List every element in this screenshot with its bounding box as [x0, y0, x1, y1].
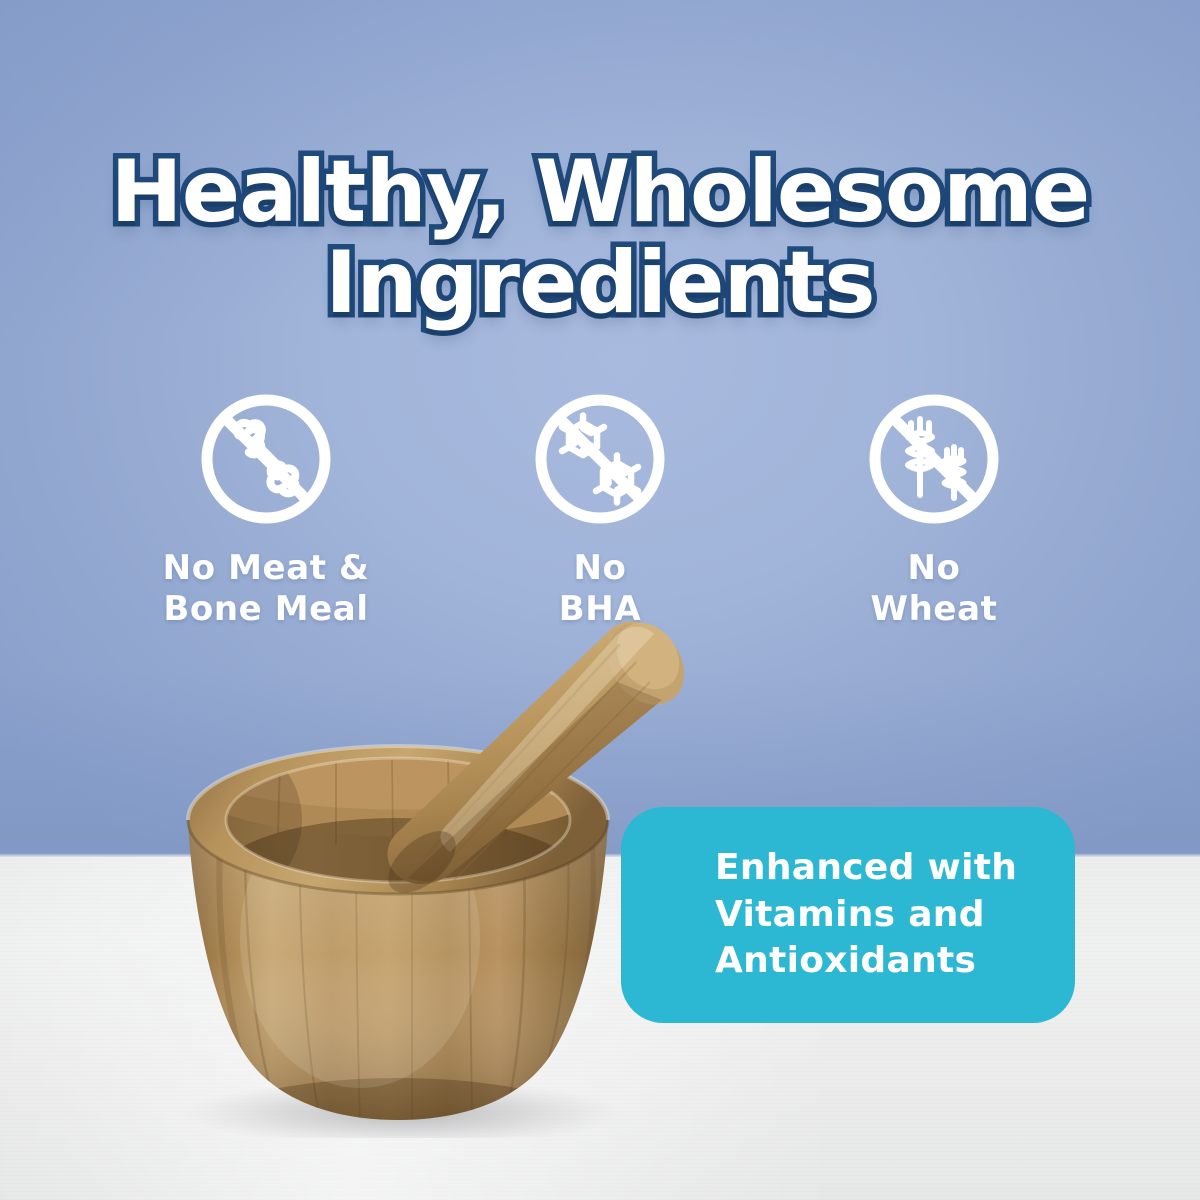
no-wheat-icon [867, 392, 1001, 526]
callout-text: Enhanced with Vitamins and Antioxidants [621, 845, 1041, 985]
promo-poster: Healthy, Wholesome Ingredients No Meat &… [0, 0, 1200, 1200]
benefit-item-no-wheat: No Wheat [767, 392, 1101, 631]
benefit-item-no-meat-bone-meal: No Meat & Bone Meal [99, 392, 433, 631]
no-bha-icon [533, 392, 667, 526]
benefit-label-no-wheat: No Wheat [871, 548, 998, 631]
page-title-line-2: Ingredients [0, 241, 1200, 326]
callout-card: Enhanced with Vitamins and Antioxidants [621, 807, 1075, 1023]
page-title-line-1: Healthy, Wholesome [0, 150, 1200, 235]
no-meat-bone-meal-icon [199, 392, 333, 526]
page-title: Healthy, Wholesome Ingredients [0, 150, 1200, 326]
benefit-item-no-bha: No BHA [433, 392, 767, 631]
benefit-icon-row: No Meat & Bone Meal [0, 392, 1200, 631]
